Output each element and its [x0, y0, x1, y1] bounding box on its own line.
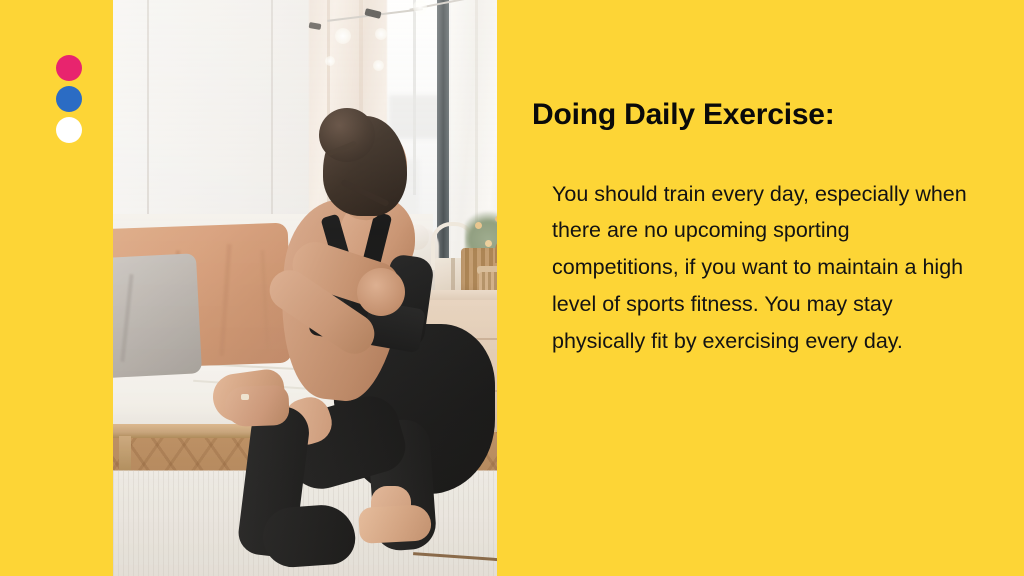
slide-canvas: Doing Daily Exercise: You should train e…: [0, 0, 1024, 576]
woman-elbow: [357, 268, 405, 316]
string-light-bulb-2: [375, 28, 387, 40]
slide-title: Doing Daily Exercise:: [532, 96, 984, 134]
gift-box-ribbon: [451, 258, 455, 292]
exercise-photo: [113, 0, 497, 576]
tree-ornament-2: [495, 216, 497, 222]
string-light-bulb-3: [413, 0, 427, 14]
blue-dot: [56, 86, 82, 112]
white-dot: [56, 117, 82, 143]
slide-body-text: You should train every day, especially w…: [532, 134, 982, 361]
woman-kneeling-knee: [261, 503, 357, 569]
decorative-dot-column: [56, 55, 82, 143]
tree-ornament-3: [485, 240, 492, 247]
window-mullion: [413, 0, 416, 195]
tree-ornament-1: [475, 222, 482, 229]
woman-hand-lower: [224, 385, 289, 427]
pink-dot: [56, 55, 82, 81]
string-light-bulb-4: [373, 60, 384, 71]
text-column: Doing Daily Exercise: You should train e…: [532, 96, 984, 360]
woman-bare-foot: [358, 504, 432, 544]
woman-finger-ring: [241, 394, 249, 400]
string-light-bulb-5: [325, 56, 335, 66]
string-light-bulb-1: [335, 28, 351, 44]
